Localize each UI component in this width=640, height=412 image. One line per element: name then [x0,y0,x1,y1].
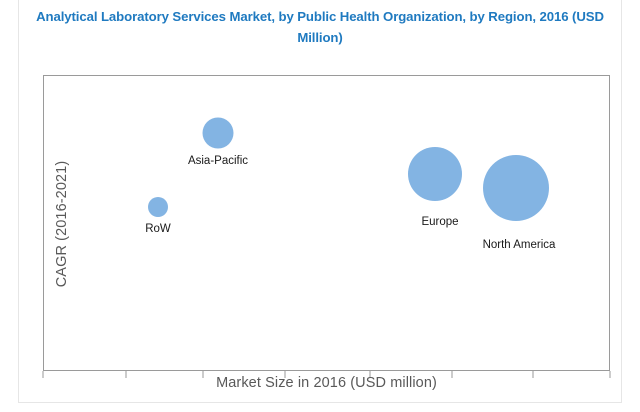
bubble-label-europe: Europe [421,216,458,228]
bubble-label-row: RoW [145,223,171,235]
plot-area [43,75,610,371]
bubble-label-north-america: North America [483,239,556,251]
chart-title: Analytical Laboratory Services Market, b… [16,6,624,48]
bubble-label-asia-pacific: Asia-Pacific [188,155,248,167]
y-axis-title: CAGR (2016-2021) [54,76,70,372]
bubble-chart-figure: Analytical Laboratory Services Market, b… [0,0,640,412]
chart-title-line-1: Analytical Laboratory Services Market, b… [16,6,624,27]
chart-title-line-2: Million) [16,27,624,48]
x-axis-title: Market Size in 2016 (USD million) [43,375,610,391]
